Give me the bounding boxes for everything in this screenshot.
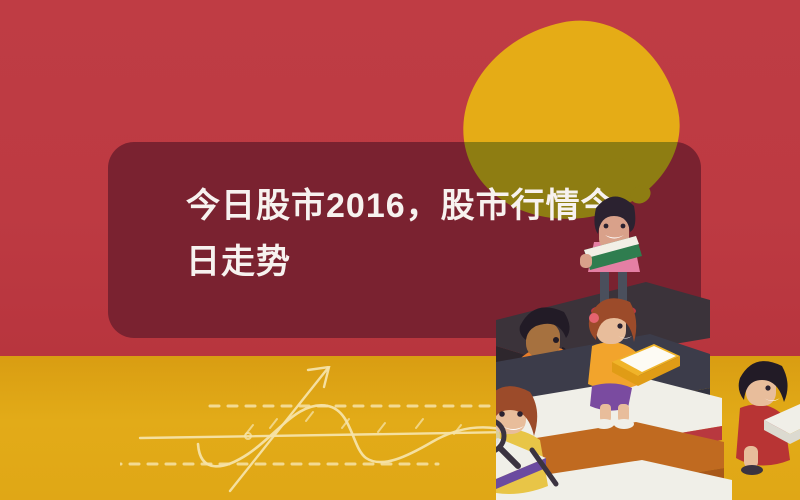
stock-chart-doodle bbox=[120, 366, 550, 494]
doodle-trend-arrow bbox=[230, 368, 328, 491]
doodle-axis-arrow bbox=[140, 432, 515, 438]
stock-market-banner: 今日股市2016，股市行情今日走势 bbox=[0, 0, 800, 500]
children-reading-illustration bbox=[496, 150, 800, 500]
boy-reading-right-side bbox=[736, 361, 800, 475]
